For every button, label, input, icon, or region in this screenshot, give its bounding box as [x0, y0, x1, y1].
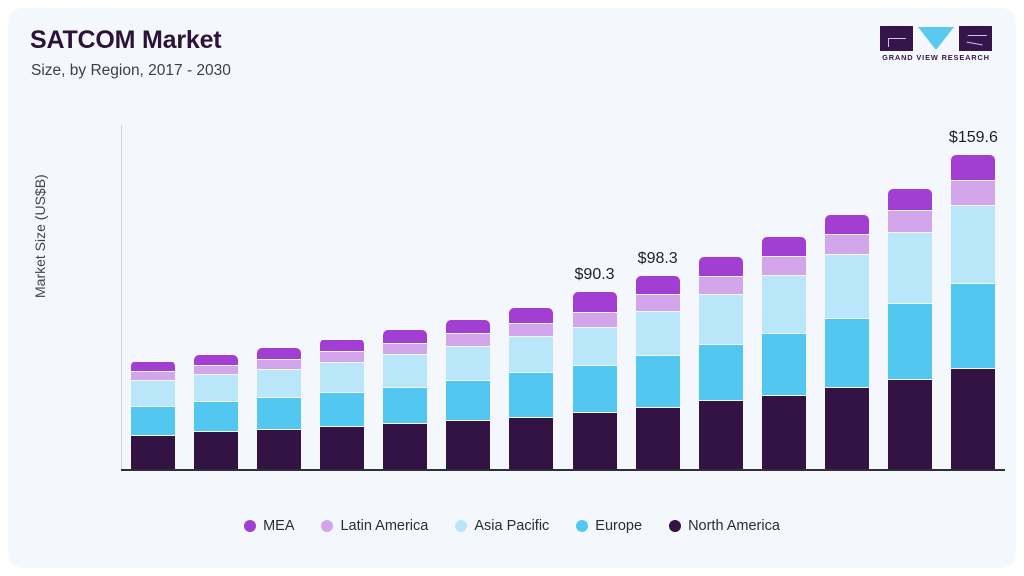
page-title: SATCOM Market	[30, 26, 221, 55]
legend-swatch-icon	[576, 520, 588, 532]
stacked-bar-2030[interactable]	[951, 155, 995, 469]
bar-segment-latin-america-2023[interactable]	[509, 323, 553, 336]
bar-segment-north-america-2028[interactable]	[825, 387, 869, 469]
bar-segment-north-america-2029[interactable]	[888, 379, 932, 469]
bar-segment-latin-america-2027[interactable]	[762, 256, 806, 275]
legend-item-europe[interactable]: Europe	[576, 518, 642, 534]
bar-value-label-2024: $90.3	[575, 266, 615, 284]
stacked-bar-2017[interactable]	[131, 361, 175, 469]
bar-segment-asia-pacific-2024[interactable]	[573, 327, 617, 365]
bar-value-label-2025: $98.3	[638, 250, 678, 268]
bar-segment-mea-2017[interactable]	[131, 362, 175, 371]
bar-segment-mea-2020[interactable]	[320, 340, 364, 352]
bar-segment-asia-pacific-2026[interactable]	[699, 294, 743, 344]
bar-segment-latin-america-2024[interactable]	[573, 312, 617, 328]
bar-segment-europe-2022[interactable]	[446, 380, 490, 420]
bar-group-2018[interactable]	[184, 125, 247, 469]
bar-segment-north-america-2019[interactable]	[257, 429, 301, 469]
grand-view-research-logo: GRAND VIEW RESEARCH	[880, 26, 992, 64]
bar-segment-europe-2018[interactable]	[194, 401, 238, 431]
bar-group-2020[interactable]	[310, 125, 373, 469]
legend-label: Latin America	[340, 518, 428, 534]
bar-segment-north-america-2026[interactable]	[699, 400, 743, 469]
legend-swatch-icon	[669, 520, 681, 532]
bar-segment-mea-2018[interactable]	[194, 355, 238, 365]
bar-segment-mea-2023[interactable]	[509, 308, 553, 323]
bar-group-2028[interactable]	[816, 125, 879, 469]
bar-group-2019[interactable]	[247, 125, 310, 469]
stacked-bar-2026[interactable]	[699, 257, 743, 469]
bar-segment-mea-2027[interactable]	[762, 237, 806, 256]
bar-segment-north-america-2027[interactable]	[762, 395, 806, 469]
bar-segment-mea-2022[interactable]	[446, 320, 490, 334]
bar-segment-north-america-2030[interactable]	[951, 368, 995, 469]
bar-segment-asia-pacific-2023[interactable]	[509, 336, 553, 373]
bar-segment-latin-america-2018[interactable]	[194, 365, 238, 374]
bar-segment-europe-2026[interactable]	[699, 344, 743, 400]
bar-segment-asia-pacific-2030[interactable]	[951, 205, 995, 283]
legend-item-asia-pacific[interactable]: Asia Pacific	[455, 518, 549, 534]
legend-swatch-icon	[321, 520, 333, 532]
bar-segment-north-america-2018[interactable]	[194, 431, 238, 469]
legend-label: Europe	[595, 518, 642, 534]
bar-segment-asia-pacific-2020[interactable]	[320, 362, 364, 392]
bar-segment-asia-pacific-2025[interactable]	[636, 311, 680, 355]
bar-segment-north-america-2021[interactable]	[383, 423, 427, 469]
bar-segment-latin-america-2029[interactable]	[888, 210, 932, 232]
bar-segment-mea-2025[interactable]	[636, 276, 680, 295]
stacked-bar-2019[interactable]	[257, 348, 301, 469]
chart-legend: MEALatin AmericaAsia PacificEuropeNorth …	[8, 518, 1016, 534]
bar-segment-europe-2017[interactable]	[131, 406, 175, 435]
bar-series-group: $90.3$98.3$159.6	[121, 125, 1005, 469]
logo-v-triangle-icon	[918, 27, 954, 50]
stacked-bar-2025[interactable]	[636, 276, 680, 469]
bar-segment-europe-2030[interactable]	[951, 283, 995, 368]
bar-segment-europe-2024[interactable]	[573, 365, 617, 412]
bar-segment-north-america-2025[interactable]	[636, 407, 680, 469]
bar-group-2021[interactable]	[374, 125, 437, 469]
bar-segment-north-america-2023[interactable]	[509, 417, 553, 469]
bar-group-2024[interactable]: $90.3	[563, 125, 626, 469]
bar-segment-europe-2023[interactable]	[509, 372, 553, 416]
chart-card: SATCOM Market Size, by Region, 2017 - 20…	[8, 8, 1016, 568]
bar-segment-asia-pacific-2017[interactable]	[131, 380, 175, 406]
bar-group-2030[interactable]: $159.6	[942, 125, 1005, 469]
bar-segment-north-america-2020[interactable]	[320, 426, 364, 469]
legend-item-mea[interactable]: MEA	[244, 518, 294, 534]
bar-segment-asia-pacific-2028[interactable]	[825, 254, 869, 318]
bar-group-2023[interactable]	[500, 125, 563, 469]
bar-group-2017[interactable]	[121, 125, 184, 469]
bar-segment-europe-2020[interactable]	[320, 392, 364, 425]
legend-item-north-america[interactable]: North America	[669, 518, 780, 534]
stacked-bar-2029[interactable]	[888, 189, 932, 469]
bar-segment-mea-2030[interactable]	[951, 155, 995, 180]
bar-segment-latin-america-2017[interactable]	[131, 371, 175, 380]
bar-segment-north-america-2022[interactable]	[446, 420, 490, 469]
bar-value-label-2030: $159.6	[949, 129, 998, 147]
logo-r-mark-icon	[964, 35, 987, 45]
x-axis-line	[121, 469, 1005, 471]
legend-swatch-icon	[455, 520, 467, 532]
bar-segment-europe-2027[interactable]	[762, 333, 806, 396]
bar-segment-latin-america-2019[interactable]	[257, 359, 301, 369]
bar-segment-europe-2028[interactable]	[825, 318, 869, 387]
bar-group-2027[interactable]	[752, 125, 815, 469]
stacked-bar-2020[interactable]	[320, 339, 364, 469]
bar-segment-mea-2028[interactable]	[825, 215, 869, 234]
bar-segment-latin-america-2021[interactable]	[383, 343, 427, 355]
stacked-bar-2024[interactable]	[573, 292, 617, 470]
bar-segment-mea-2029[interactable]	[888, 189, 932, 210]
bar-segment-asia-pacific-2027[interactable]	[762, 275, 806, 333]
bar-segment-asia-pacific-2021[interactable]	[383, 354, 427, 387]
bar-segment-mea-2019[interactable]	[257, 348, 301, 359]
bar-segment-north-america-2024[interactable]	[573, 412, 617, 469]
bar-group-2026[interactable]	[689, 125, 752, 469]
bar-group-2029[interactable]	[879, 125, 942, 469]
bar-segment-europe-2025[interactable]	[636, 355, 680, 407]
stacked-bar-2023[interactable]	[509, 308, 553, 469]
bar-segment-latin-america-2022[interactable]	[446, 333, 490, 346]
stacked-bar-2022[interactable]	[446, 320, 490, 469]
bar-segment-mea-2026[interactable]	[699, 257, 743, 276]
bar-segment-asia-pacific-2019[interactable]	[257, 369, 301, 398]
bar-segment-asia-pacific-2022[interactable]	[446, 346, 490, 380]
bar-segment-latin-america-2020[interactable]	[320, 351, 364, 362]
bar-segment-latin-america-2025[interactable]	[636, 294, 680, 311]
bar-segment-latin-america-2026[interactable]	[699, 276, 743, 294]
legend-label: Asia Pacific	[474, 518, 549, 534]
y-axis-label: Market Size (US$B)	[32, 174, 48, 298]
logo-g-mark-icon	[888, 38, 906, 47]
stacked-bar-2018[interactable]	[194, 355, 238, 469]
bar-segment-mea-2021[interactable]	[383, 330, 427, 343]
chart-subtitle: Size, by Region, 2017 - 2030	[31, 62, 231, 80]
stacked-bar-2027[interactable]	[762, 237, 806, 469]
plot-area: 0255075100125150175 $90.3$98.3$159.6 201…	[121, 125, 1005, 469]
bar-segment-mea-2024[interactable]	[573, 292, 617, 312]
bar-segment-europe-2019[interactable]	[257, 397, 301, 428]
legend-label: North America	[688, 518, 780, 534]
bar-segment-latin-america-2028[interactable]	[825, 234, 869, 254]
bar-segment-europe-2021[interactable]	[383, 387, 427, 423]
logo-wordmark: GRAND VIEW RESEARCH	[880, 53, 992, 62]
bar-group-2025[interactable]: $98.3	[626, 125, 689, 469]
legend-swatch-icon	[244, 520, 256, 532]
bar-group-2022[interactable]	[437, 125, 500, 469]
stacked-bar-2021[interactable]	[383, 330, 427, 469]
bar-segment-asia-pacific-2018[interactable]	[194, 374, 238, 401]
bar-segment-north-america-2017[interactable]	[131, 435, 175, 469]
bar-segment-europe-2029[interactable]	[888, 303, 932, 379]
legend-label: MEA	[263, 518, 294, 534]
legend-item-latin-america[interactable]: Latin America	[321, 518, 428, 534]
bar-segment-latin-america-2030[interactable]	[951, 180, 995, 205]
stacked-bar-2028[interactable]	[825, 215, 869, 469]
logo-marks	[880, 26, 992, 51]
bar-segment-asia-pacific-2029[interactable]	[888, 232, 932, 303]
